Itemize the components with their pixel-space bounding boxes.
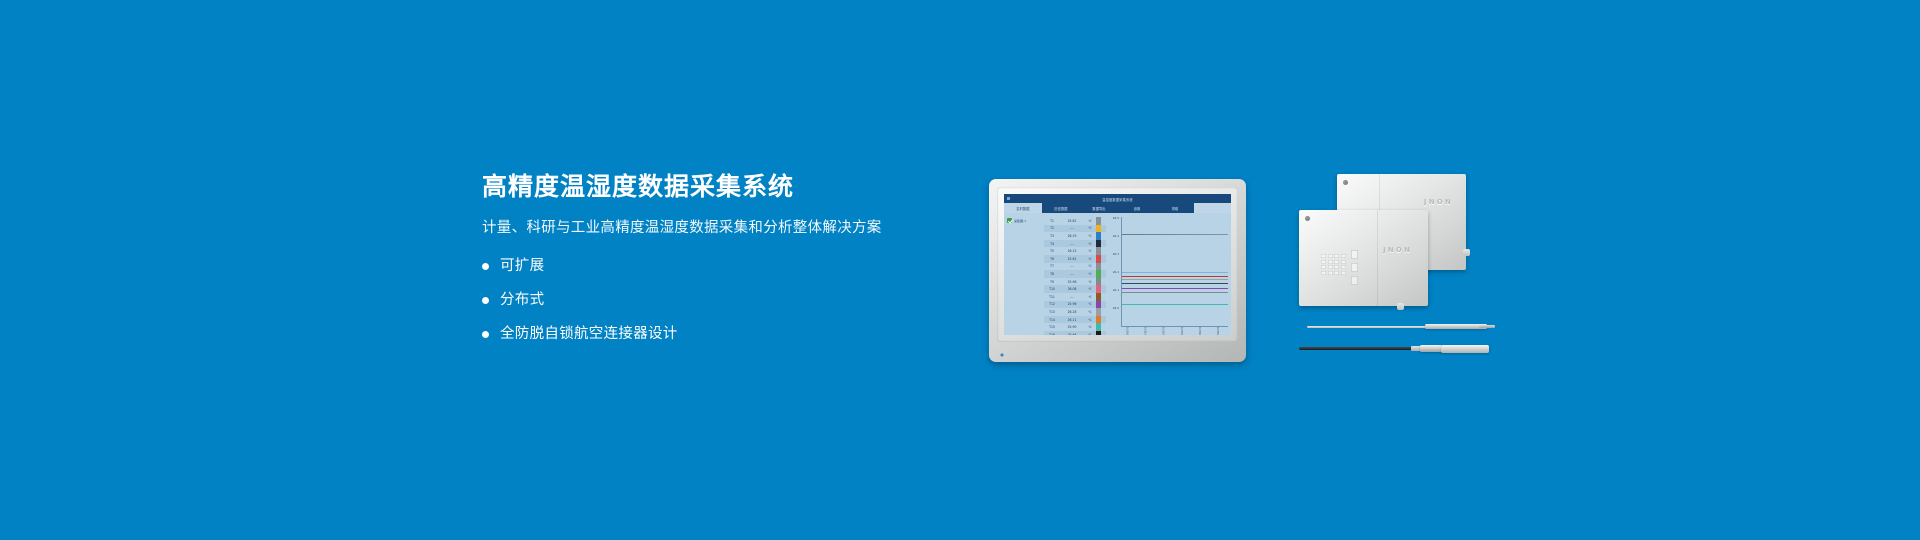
cell-channel: T10 — [1044, 287, 1060, 291]
table-row[interactable]: T326.19℃ — [1044, 232, 1106, 240]
probe-cable — [1299, 347, 1417, 350]
cell-channel: T5 — [1044, 249, 1060, 253]
cell-value: --- — [1060, 295, 1084, 299]
table-row[interactable]: T125.81℃ — [1044, 217, 1106, 225]
table-row[interactable]: T1625.94℃ — [1044, 331, 1106, 335]
tab-history-data[interactable]: 历史数据 — [1042, 203, 1080, 213]
table-row[interactable]: T925.98℃ — [1044, 278, 1106, 286]
app-logo-icon — [1007, 197, 1010, 200]
app-window-title: 温湿度数据采集系统 — [1102, 197, 1133, 202]
series-color-swatch — [1096, 285, 1101, 293]
cell-value: 25.81 — [1060, 219, 1084, 223]
series-line-T9 — [1122, 283, 1228, 284]
feature-list: 可扩展 分布式 全防脱自锁航空连接器设计 — [482, 256, 952, 344]
cell-value: --- — [1060, 264, 1084, 268]
probe-tip — [1479, 325, 1495, 328]
x-tick: 10:33:02 — [1180, 327, 1183, 335]
series-line-T16 — [1122, 304, 1228, 305]
panel-pc-monitor: 温湿度数据采集系统 实时数据 历史数据 数据导出 设置 帮助 采集器-1 — [989, 179, 1246, 362]
cell-channel: T9 — [1044, 280, 1060, 284]
series-line-T6 — [1122, 279, 1228, 280]
series-line-T12 — [1122, 292, 1228, 293]
cell-channel: T13 — [1044, 310, 1060, 314]
monitor-chin — [997, 351, 1011, 359]
cell-value: 25.90 — [1060, 325, 1084, 329]
device-group: JNON JNON — [1299, 172, 1489, 362]
table-row[interactable]: T1525.90℃ — [1044, 323, 1106, 331]
series-color-swatch — [1096, 240, 1101, 248]
chart-y-axis: 26.5 26.4 26.3 26.2 26.1 26.0 — [1106, 216, 1120, 327]
power-indicator-icon — [1000, 353, 1004, 357]
tab-bar-filler — [1194, 203, 1231, 213]
app-title-bar: 温湿度数据采集系统 — [1004, 194, 1231, 203]
series-color-swatch — [1096, 263, 1101, 271]
cell-unit: ℃ — [1084, 280, 1096, 284]
table-row[interactable]: T7---℃ — [1044, 263, 1106, 271]
probe-rod — [1307, 326, 1427, 328]
y-tick: 26.4 — [1113, 234, 1119, 238]
table-row[interactable]: T11---℃ — [1044, 293, 1106, 301]
series-color-swatch — [1096, 217, 1101, 225]
probe-connector-nut — [1420, 345, 1442, 352]
cell-unit: ℃ — [1084, 325, 1096, 329]
cell-channel: T15 — [1044, 325, 1060, 329]
feature-item-2: 全防脱自锁航空连接器设计 — [482, 324, 952, 344]
screw-icon — [1305, 216, 1310, 221]
bullet-dot-icon — [482, 263, 489, 270]
feature-item-1: 分布式 — [482, 290, 952, 310]
brand-logo: JNON — [1424, 198, 1453, 206]
feature-label: 可扩展 — [500, 256, 544, 276]
cell-value: --- — [1060, 272, 1084, 276]
table-row[interactable]: T1326.28℃ — [1044, 308, 1106, 316]
cell-value: 26.11 — [1060, 318, 1084, 322]
bullet-dot-icon — [482, 297, 489, 304]
cell-unit: ℃ — [1084, 302, 1096, 306]
y-tick: 26.0 — [1113, 306, 1119, 310]
monitor-screen: 温湿度数据采集系统 实时数据 历史数据 数据导出 设置 帮助 采集器-1 — [1004, 194, 1231, 335]
cell-channel: T8 — [1044, 272, 1060, 276]
cell-channel: T6 — [1044, 257, 1060, 261]
y-tick: 26.5 — [1113, 216, 1119, 220]
monitor-inner-bezel: 温湿度数据采集系统 实时数据 历史数据 数据导出 设置 帮助 采集器-1 — [997, 187, 1238, 342]
series-color-swatch — [1096, 255, 1101, 263]
series-color-swatch — [1096, 270, 1101, 278]
cell-channel: T3 — [1044, 234, 1060, 238]
series-color-swatch — [1096, 331, 1101, 335]
app-tab-bar: 实时数据 历史数据 数据导出 设置 帮助 — [1004, 203, 1231, 213]
x-tick: 10:34:02 — [1198, 327, 1201, 335]
data-acquisition-module-front: JNON — [1299, 210, 1428, 306]
trend-chart: 26.5 26.4 26.3 26.2 26.1 26.0 — [1106, 213, 1231, 335]
series-color-swatch — [1096, 232, 1101, 240]
cell-unit: ℃ — [1084, 333, 1096, 335]
y-tick: 26.2 — [1113, 270, 1119, 274]
x-tick: 10:30:02 — [1125, 327, 1128, 335]
tab-help[interactable]: 帮助 — [1156, 203, 1194, 213]
cell-channel: T12 — [1044, 302, 1060, 306]
cell-unit: ℃ — [1084, 318, 1096, 322]
chart-plot-area — [1121, 217, 1228, 327]
cell-unit: ℃ — [1084, 234, 1096, 238]
series-color-swatch — [1096, 316, 1101, 324]
cell-value: 25.96 — [1060, 302, 1084, 306]
series-color-swatch — [1096, 247, 1101, 255]
table-row[interactable]: T526.13℃ — [1044, 247, 1106, 255]
temperature-probe-rigid — [1307, 324, 1487, 329]
cell-value: 25.61 — [1060, 257, 1084, 261]
cell-channel: T7 — [1044, 264, 1060, 268]
series-line-T1 — [1122, 234, 1228, 235]
probe-body — [1425, 324, 1487, 329]
cell-channel: T2 — [1044, 226, 1060, 230]
device-sidebar: 采集器-1 — [1004, 213, 1044, 335]
cell-unit: ℃ — [1084, 264, 1096, 268]
x-tick: 10:31:02 — [1143, 327, 1146, 335]
series-line-T3 — [1122, 272, 1228, 273]
mount-ear — [1463, 249, 1470, 256]
mount-ear — [1397, 303, 1404, 310]
channel-table: T125.81℃ T2---℃ T326.19℃ T4---℃ T526.13℃… — [1044, 213, 1106, 335]
feature-item-0: 可扩展 — [482, 256, 952, 276]
table-row[interactable]: T8---℃ — [1044, 270, 1106, 278]
cell-channel: T16 — [1044, 333, 1060, 335]
x-tick: 10:35:02 — [1216, 327, 1219, 335]
cell-unit: ℃ — [1084, 242, 1096, 246]
connector-grid — [1321, 254, 1346, 275]
cell-unit: ℃ — [1084, 249, 1096, 253]
series-line-T10 — [1122, 288, 1228, 289]
temperature-probe-cabled — [1299, 344, 1489, 353]
cell-unit: ℃ — [1084, 219, 1096, 223]
tab-export-data[interactable]: 数据导出 — [1080, 203, 1118, 213]
bullet-dot-icon — [482, 331, 489, 338]
feature-label: 全防脱自锁航空连接器设计 — [500, 324, 678, 344]
brand-logo: JNON — [1383, 246, 1412, 254]
cell-channel: T4 — [1044, 242, 1060, 246]
series-color-swatch — [1096, 323, 1101, 331]
hero-banner: 高精度温湿度数据采集系统 计量、科研与工业高精度温湿度数据采集和分析整体解决方案… — [0, 0, 1920, 540]
table-row[interactable]: T1026.08℃ — [1044, 285, 1106, 293]
cell-value: 26.19 — [1060, 234, 1084, 238]
cell-unit: ℃ — [1084, 310, 1096, 314]
page-subtitle: 计量、科研与工业高精度温湿度数据采集和分析整体解决方案 — [482, 218, 952, 238]
feature-label: 分布式 — [500, 290, 544, 310]
series-color-swatch — [1096, 308, 1101, 316]
sidebar-item-label: 采集器-1 — [1014, 219, 1026, 223]
cell-value: --- — [1060, 226, 1084, 230]
cell-value: 25.94 — [1060, 333, 1084, 335]
y-tick: 26.3 — [1113, 252, 1119, 256]
cell-unit: ℃ — [1084, 295, 1096, 299]
cell-value: 25.98 — [1060, 280, 1084, 284]
chart-x-axis: 10:30:02 10:31:02 10:32:02 10:33:02 10:3… — [1121, 327, 1228, 335]
device-online-icon — [1007, 218, 1012, 223]
table-row[interactable]: T625.61℃ — [1044, 255, 1106, 263]
app-work-area: 采集器-1 T125.81℃ T2---℃ T326.19℃ T4---℃ T5… — [1004, 213, 1231, 335]
series-color-swatch — [1096, 301, 1101, 309]
table-row[interactable]: T1426.11℃ — [1044, 316, 1106, 324]
series-color-swatch — [1096, 293, 1101, 301]
port-column — [1351, 250, 1358, 285]
cell-value: 26.08 — [1060, 287, 1084, 291]
table-row[interactable]: T4---℃ — [1044, 240, 1106, 248]
cell-unit: ℃ — [1084, 257, 1096, 261]
probe-barrel — [1441, 345, 1489, 353]
cell-channel: T14 — [1044, 318, 1060, 322]
series-color-swatch — [1096, 278, 1101, 286]
page-title: 高精度温湿度数据采集系统 — [482, 172, 952, 202]
screw-icon — [1343, 180, 1348, 185]
x-tick: 10:32:02 — [1162, 327, 1165, 335]
y-tick: 26.1 — [1113, 288, 1119, 292]
cell-unit: ℃ — [1084, 287, 1096, 291]
panel-seam — [1377, 210, 1378, 306]
table-row[interactable]: T1225.96℃ — [1044, 301, 1106, 309]
table-row[interactable]: T2---℃ — [1044, 225, 1106, 233]
cell-value: 26.28 — [1060, 310, 1084, 314]
tab-settings[interactable]: 设置 — [1118, 203, 1156, 213]
series-color-swatch — [1096, 225, 1101, 233]
tab-realtime-data[interactable]: 实时数据 — [1004, 203, 1042, 213]
sidebar-item-collector-1[interactable]: 采集器-1 — [1007, 218, 1041, 223]
cell-unit: ℃ — [1084, 226, 1096, 230]
cell-value: --- — [1060, 242, 1084, 246]
banner-copy-block: 高精度温湿度数据采集系统 计量、科研与工业高精度温湿度数据采集和分析整体解决方案… — [482, 172, 952, 344]
series-line-T5 — [1122, 276, 1228, 277]
cell-channel: T1 — [1044, 219, 1060, 223]
cell-channel: T11 — [1044, 295, 1060, 299]
cell-unit: ℃ — [1084, 272, 1096, 276]
cell-value: 26.13 — [1060, 249, 1084, 253]
